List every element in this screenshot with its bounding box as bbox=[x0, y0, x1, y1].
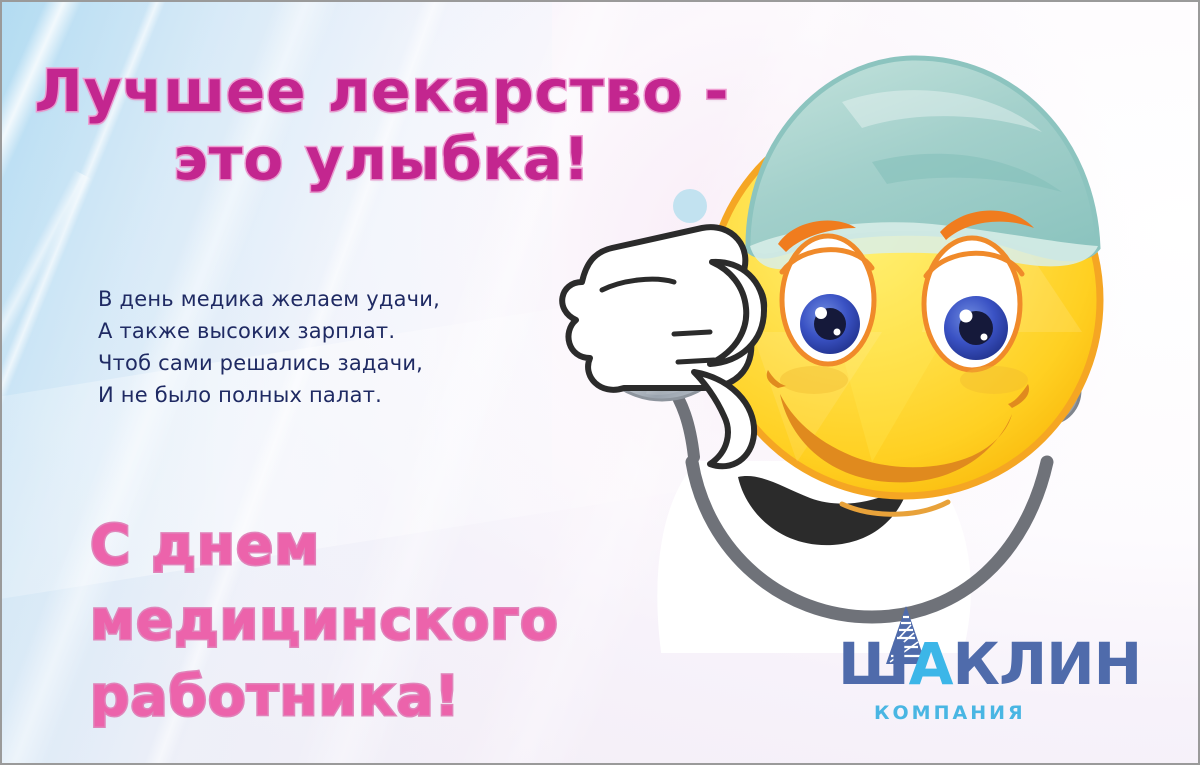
eye-right bbox=[924, 238, 1022, 370]
artwork-doctor-emoji bbox=[542, 32, 1200, 672]
logo-brand-prefix: Ш bbox=[838, 630, 909, 698]
poem-line: Чтоб сами решались задачи, bbox=[98, 348, 440, 380]
logo-brand-accent: А bbox=[909, 630, 953, 698]
poem-line: И не было полных палат. bbox=[98, 380, 440, 412]
greeting-card: Лучшее лекарство - это улыбка! В день ме… bbox=[0, 0, 1200, 765]
logo-brand-suffix: КЛИН bbox=[953, 630, 1142, 698]
poem-line: В день медика желаем удачи, bbox=[98, 284, 440, 316]
company-logo[interactable]: ШАКЛИН КОМПАНИЯ bbox=[838, 602, 1174, 742]
poem-text: В день медика желаем удачи,А также высок… bbox=[98, 284, 440, 412]
poem-line: А также высоких зарплат. bbox=[98, 316, 440, 348]
eye-left bbox=[782, 236, 874, 364]
logo-wordmark: ШАКЛИН bbox=[838, 632, 1174, 696]
logo-subtitle: КОМПАНИЯ bbox=[874, 702, 1154, 724]
gloved-hand bbox=[562, 227, 764, 390]
